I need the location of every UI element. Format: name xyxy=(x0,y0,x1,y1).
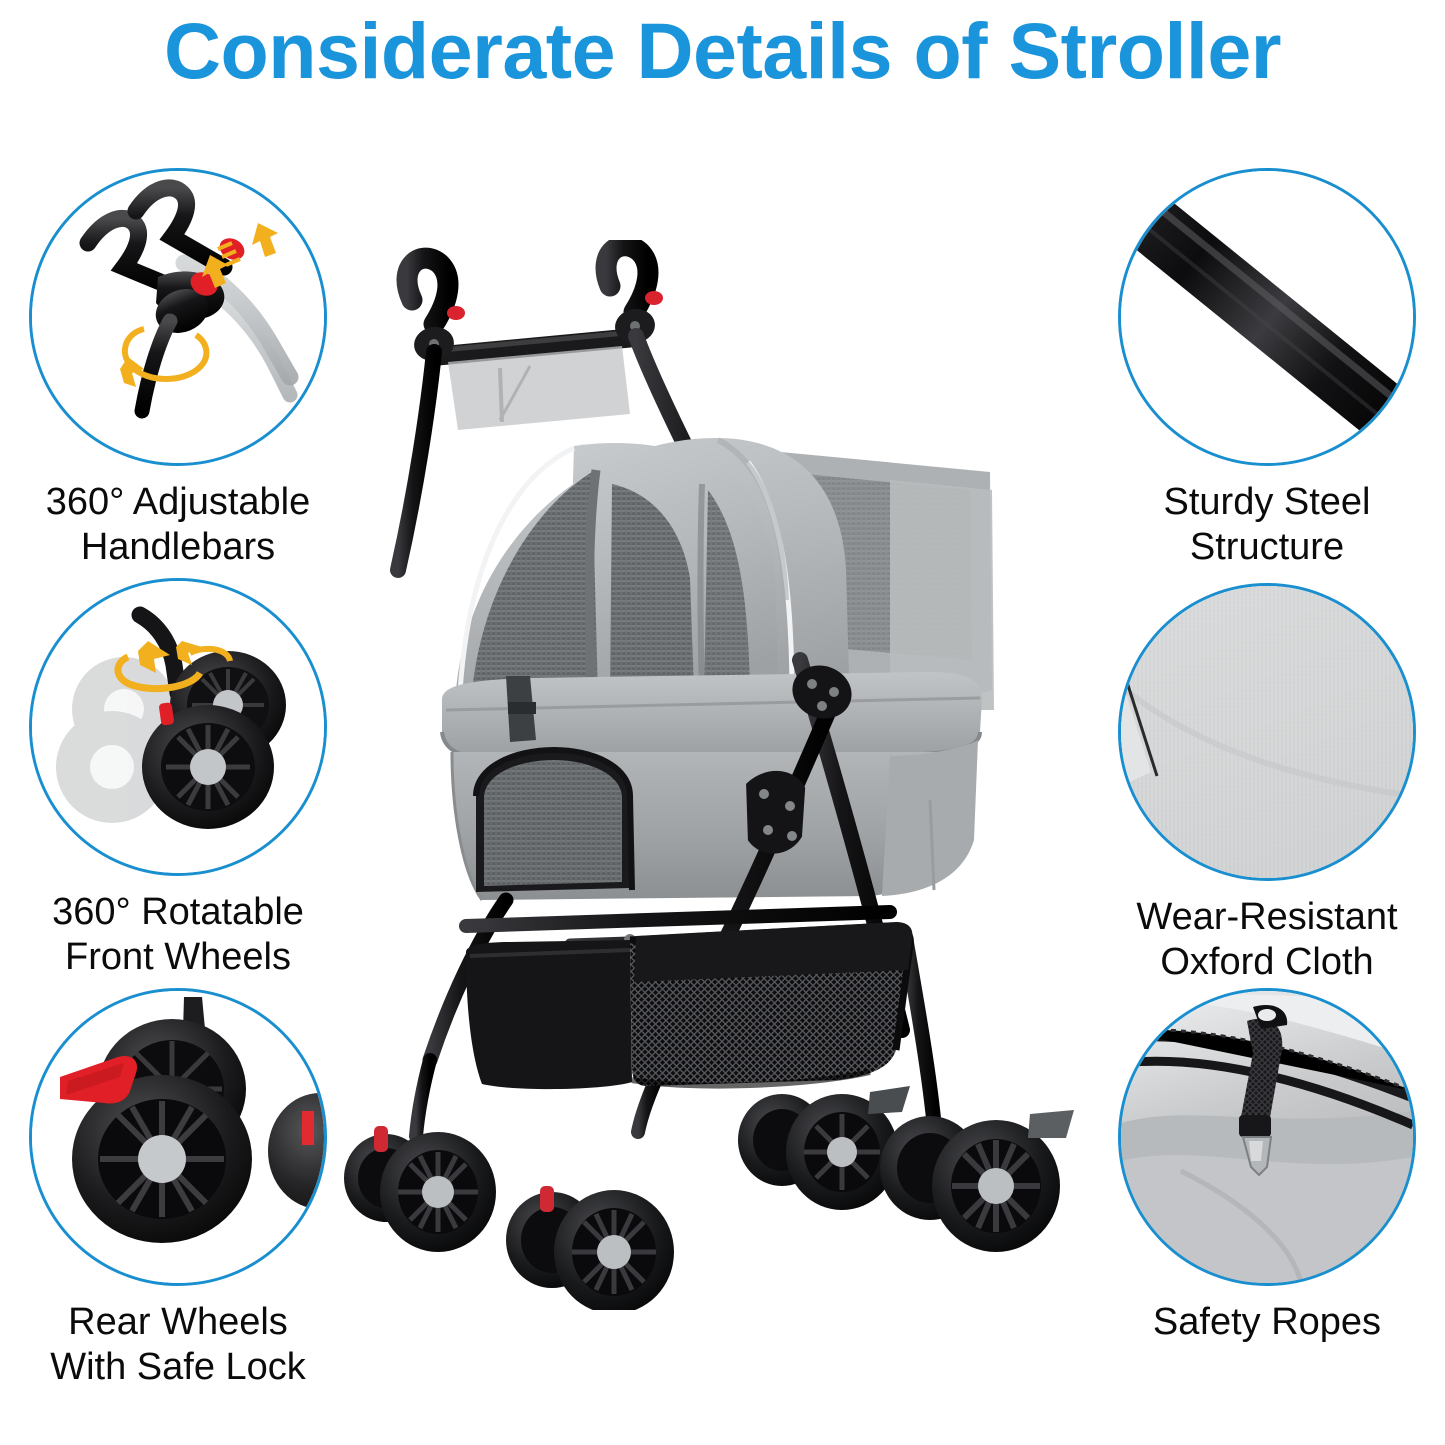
feature-label: Wear-Resistant Oxford Cloth xyxy=(1087,895,1445,985)
safety-rope-icon xyxy=(1121,991,1413,1283)
feature-rotatable-front-wheels: 360° Rotatable Front Wheels xyxy=(0,578,358,980)
feature-label: Sturdy Steel Structure xyxy=(1087,480,1445,570)
feature-label: 360° Rotatable Front Wheels xyxy=(0,890,358,980)
feature-image-circle xyxy=(29,168,327,466)
feature-image-circle xyxy=(29,988,327,1286)
feature-image-circle xyxy=(1118,583,1416,881)
feature-image-circle xyxy=(1118,168,1416,466)
handlebars-icon xyxy=(32,171,324,463)
rear-wheel-lock-icon xyxy=(32,991,324,1283)
front-wheel-left xyxy=(344,1126,496,1252)
feature-image-circle xyxy=(29,578,327,876)
product-image-pet-stroller xyxy=(330,240,1120,1310)
feature-wear-resistant-oxford-cloth: Wear-Resistant Oxford Cloth xyxy=(1087,583,1445,985)
front-wheels-icon xyxy=(32,581,324,873)
feature-adjustable-handlebars: 360° Adjustable Handlebars xyxy=(0,168,358,570)
front-wheel-right xyxy=(506,1186,674,1310)
feature-rear-wheels-safe-lock: Rear Wheels With Safe Lock xyxy=(0,988,358,1390)
feature-label: Safety Ropes xyxy=(1087,1300,1445,1345)
rear-wheel-right xyxy=(880,1110,1074,1252)
feature-label: 360° Adjustable Handlebars xyxy=(0,480,358,570)
feature-sturdy-steel-structure: Sturdy Steel Structure xyxy=(1087,168,1445,570)
page-title: Considerate Details of Stroller xyxy=(0,8,1445,95)
pet-stroller-illustration xyxy=(330,240,1120,1310)
feature-label: Rear Wheels With Safe Lock xyxy=(0,1300,358,1390)
bassinet xyxy=(442,672,982,900)
steel-tube-icon xyxy=(1121,171,1413,463)
oxford-cloth-icon xyxy=(1121,586,1413,878)
feature-image-circle xyxy=(1118,988,1416,1286)
feature-safety-ropes: Safety Ropes xyxy=(1087,988,1445,1345)
storage-basket xyxy=(466,922,912,1089)
